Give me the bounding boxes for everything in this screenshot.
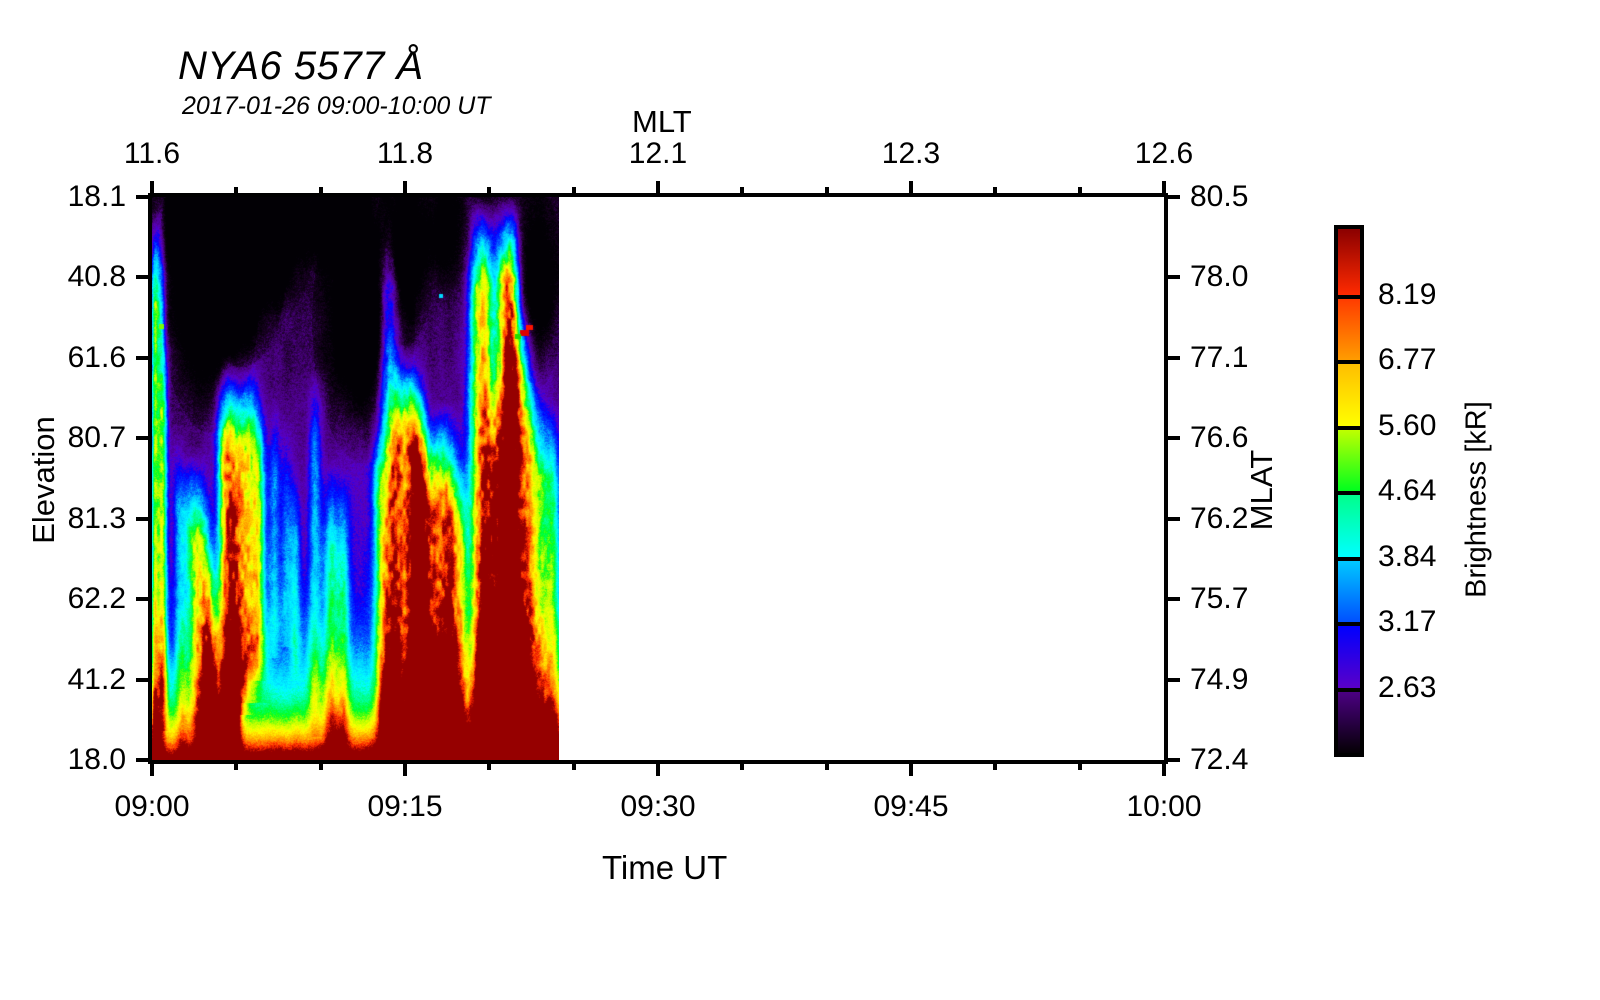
colorbar-tick-label: 6.77: [1378, 343, 1436, 377]
tick-left: [136, 436, 152, 440]
colorbar-tick-label: 2.63: [1378, 671, 1436, 705]
ytick-label: 62.2: [68, 582, 126, 616]
colorbar-band: [1338, 426, 1360, 492]
bottom-axis-title: Time UT: [602, 849, 727, 887]
tick-top-minor: [487, 187, 491, 197]
tick-bottom-minor: [825, 760, 829, 770]
tick-bottom-major: [1162, 760, 1166, 776]
y2tick-label: 75.7: [1190, 582, 1248, 616]
ytick-label: 41.2: [68, 663, 126, 697]
tick-right: [1164, 678, 1180, 682]
x2tick-label: 12.1: [629, 137, 687, 171]
tick-top-major: [656, 181, 660, 197]
y2tick-label: 76.2: [1190, 502, 1248, 536]
tick-bottom-minor: [740, 760, 744, 770]
tick-bottom-major: [656, 760, 660, 776]
tick-right: [1164, 597, 1180, 601]
xtick-label: 09:30: [620, 790, 695, 824]
colorbar-tick-label: 8.19: [1378, 278, 1436, 312]
plot-title: NYA6 5577 Å: [178, 44, 424, 89]
tick-right: [1164, 436, 1180, 440]
tick-top-major: [403, 181, 407, 197]
tick-bottom-minor: [234, 760, 238, 770]
x2tick-label: 11.6: [124, 137, 180, 171]
colorbar-bands: [1338, 229, 1360, 753]
ytick-label: 80.7: [68, 421, 126, 455]
tick-left: [136, 758, 152, 762]
colorbar-tick-label: 5.60: [1378, 409, 1436, 443]
colorbar-band: [1338, 229, 1360, 295]
x2tick-label: 12.3: [882, 137, 940, 171]
ytick-label: 40.8: [68, 260, 126, 294]
ytick-label: 81.3: [68, 502, 126, 536]
colorbar-tick-label: 4.64: [1378, 474, 1436, 508]
colorbar-band: [1338, 622, 1360, 688]
tick-left: [136, 597, 152, 601]
colorbar-band: [1338, 557, 1360, 623]
tick-top-minor: [234, 187, 238, 197]
x2tick-label: 11.8: [377, 137, 433, 171]
right-axis-title: MLAT: [1244, 440, 1280, 540]
tick-bottom-major: [150, 760, 154, 776]
colorbar-band: [1338, 295, 1360, 361]
tick-bottom-minor: [487, 760, 491, 770]
colorbar: [1334, 225, 1364, 757]
colorbar-band: [1338, 688, 1360, 754]
colorbar-band: [1338, 360, 1360, 426]
tick-left: [136, 517, 152, 521]
tick-left: [136, 678, 152, 682]
y2tick-label: 77.1: [1190, 341, 1248, 375]
xtick-label: 09:00: [114, 790, 189, 824]
ytick-label: 18.1: [68, 180, 126, 214]
tick-bottom-major: [403, 760, 407, 776]
colorbar-tick-label: 3.17: [1378, 605, 1436, 639]
tick-right: [1164, 517, 1180, 521]
tick-top-minor: [319, 187, 323, 197]
tick-right: [1164, 275, 1180, 279]
plot-area: [148, 193, 1168, 764]
y2tick-label: 78.0: [1190, 260, 1248, 294]
tick-left: [136, 275, 152, 279]
tick-left: [136, 195, 152, 199]
tick-top-major: [909, 181, 913, 197]
xtick-label: 10:00: [1126, 790, 1201, 824]
colorbar-title: Brightness [kR]: [1461, 380, 1494, 620]
y2tick-label: 74.9: [1190, 663, 1248, 697]
tick-right: [1164, 195, 1180, 199]
xtick-label: 09:15: [367, 790, 442, 824]
xtick-label: 09:45: [873, 790, 948, 824]
heatmap-canvas-wrap: [152, 197, 1164, 760]
tick-bottom-minor: [572, 760, 576, 770]
left-axis-title: Elevation: [26, 400, 62, 560]
plot-subtitle: 2017-01-26 09:00-10:00 UT: [182, 92, 491, 121]
tick-top-minor: [1078, 187, 1082, 197]
tick-top-minor: [825, 187, 829, 197]
tick-top-minor: [740, 187, 744, 197]
y2tick-label: 76.6: [1190, 421, 1248, 455]
top-axis-title: MLT: [632, 104, 692, 140]
tick-top-minor: [572, 187, 576, 197]
tick-bottom-major: [909, 760, 913, 776]
colorbar-tick-label: 3.84: [1378, 540, 1436, 574]
ytick-label: 61.6: [68, 341, 126, 375]
tick-right: [1164, 758, 1180, 762]
colorbar-band: [1338, 491, 1360, 557]
keogram-figure: NYA6 5577 Å 2017-01-26 09:00-10:00 UT ML…: [0, 0, 1600, 1000]
y2tick-label: 72.4: [1190, 743, 1248, 777]
ytick-label: 18.0: [68, 743, 126, 777]
tick-bottom-minor: [1078, 760, 1082, 770]
tick-bottom-minor: [319, 760, 323, 770]
keogram-image: [152, 197, 559, 760]
y2tick-label: 80.5: [1190, 180, 1248, 214]
tick-bottom-minor: [993, 760, 997, 770]
tick-left: [136, 356, 152, 360]
tick-top-minor: [993, 187, 997, 197]
x2tick-label: 12.6: [1135, 137, 1193, 171]
tick-right: [1164, 356, 1180, 360]
